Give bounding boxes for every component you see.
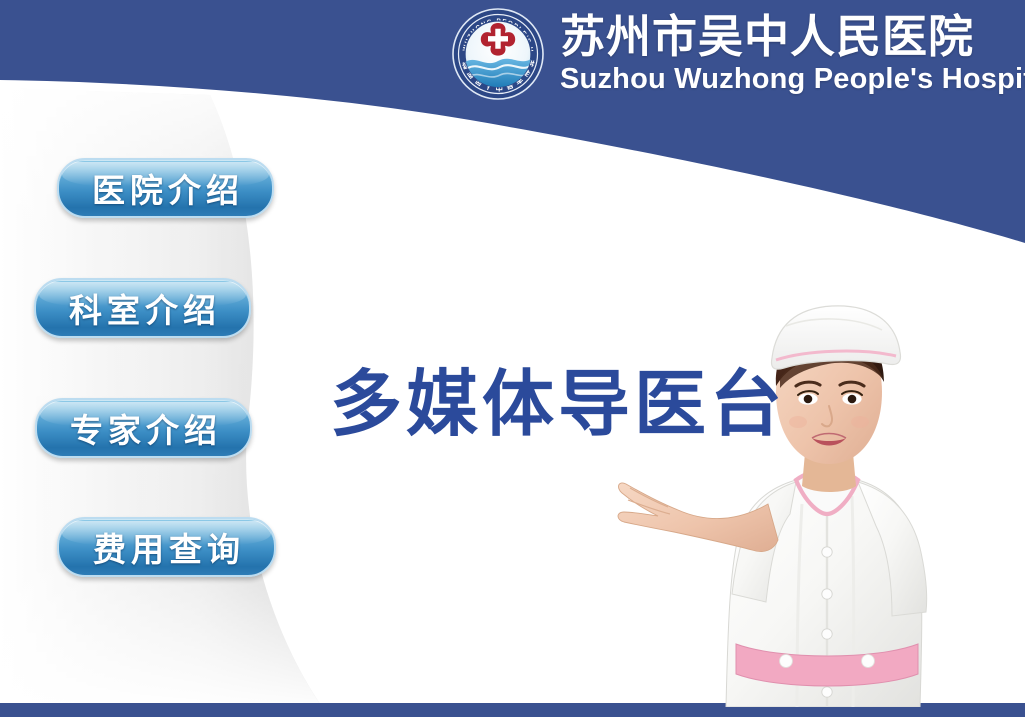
hospital-title-block: 苏州市吴中人民医院 Suzhou Wuzhong People's Hospit… (560, 12, 1025, 96)
hospital-name-en: Suzhou Wuzhong People's Hospital (560, 62, 1025, 96)
sidebar-item-label: 科室介绍 (64, 284, 221, 332)
hospital-emblem-icon: SUZHOU WUZHONG PEOPLE'S HOSPITAL 苏州市吴中人民… (450, 6, 546, 102)
kiosk-screen: SUZHOU WUZHONG PEOPLE'S HOSPITAL 苏州市吴中人民… (0, 0, 1025, 717)
sidebar-item-expert-introduction[interactable]: 专家介绍 (35, 398, 252, 458)
hospital-name-cn: 苏州市吴中人民医院 (560, 12, 1025, 62)
sidebar-item-hospital-introduction[interactable]: 医院介绍 (57, 158, 274, 218)
background-shapes (0, 0, 1025, 717)
sidebar-item-fee-inquiry[interactable]: 费用查询 (57, 517, 276, 577)
hospital-logo: SUZHOU WUZHONG PEOPLE'S HOSPITAL 苏州市吴中人民… (450, 6, 546, 102)
footer-bar (0, 703, 1025, 717)
sidebar-item-label: 专家介绍 (65, 404, 222, 452)
page-title: 多媒体导医台 (330, 363, 786, 447)
header: SUZHOU WUZHONG PEOPLE'S HOSPITAL 苏州市吴中人民… (450, 6, 1025, 102)
sidebar-item-department-introduction[interactable]: 科室介绍 (34, 278, 251, 338)
sidebar-item-label: 医院介绍 (87, 164, 244, 212)
sidebar-item-label: 费用查询 (88, 523, 245, 571)
